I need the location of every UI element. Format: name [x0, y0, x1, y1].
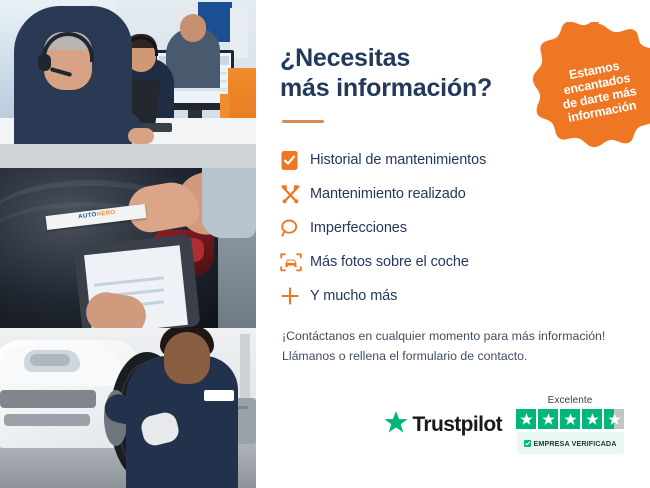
feature-item-imperfections: Imperfecciones [280, 211, 620, 245]
rating-star-filled [538, 409, 558, 429]
feature-label: Más fotos sobre el coche [310, 254, 469, 270]
agent-head-3 [180, 14, 206, 42]
page-title: ¿Necesitas más información? [280, 44, 510, 103]
mechanic-head [164, 332, 210, 384]
feature-label: Y mucho más [310, 288, 397, 304]
desk-front-edge [0, 144, 256, 168]
badge-text: Estamos encantados de darte más informac… [538, 52, 650, 128]
feature-item-more-photos: Más fotos sobre el coche [280, 245, 620, 279]
feature-item-maintenance-done: Mantenimiento realizado [280, 177, 620, 211]
document-check-icon [280, 150, 310, 171]
agent-hand [128, 128, 154, 144]
content-panel: ¿Necesitas más información? Historial de… [256, 0, 650, 488]
rating-star-filled [516, 409, 536, 429]
trustpilot-star-icon [384, 411, 408, 439]
car-bumper-vent [4, 414, 90, 426]
feature-list: Historial de mantenimientos M [280, 143, 620, 313]
photo-call-center [0, 0, 256, 168]
rating-star-half [604, 409, 624, 429]
plus-icon [280, 286, 310, 306]
headline-line-2: más información? [280, 74, 492, 102]
photo-inspection: AUTOHERO [0, 168, 256, 328]
magnifier-icon [280, 218, 310, 238]
trustpilot-rating-label: Excelente [548, 395, 593, 406]
verified-company-badge: EMPRESA VERIFICADA [517, 432, 624, 454]
feature-label: Imperfecciones [310, 220, 407, 236]
car-scan-icon [280, 252, 310, 273]
title-divider [282, 120, 324, 123]
headline-line-1: ¿Necesitas [280, 44, 410, 72]
car-headlight [24, 350, 80, 372]
monitor-screen-row [167, 88, 227, 91]
feature-label: Historial de mantenimientos [310, 152, 486, 168]
tools-cross-icon [280, 184, 310, 205]
headset-earcup [38, 54, 51, 71]
rating-star-filled [560, 409, 580, 429]
photo-workshop [0, 328, 256, 488]
rating-star-filled [582, 409, 602, 429]
trustpilot-score-block: Excelente [516, 395, 624, 454]
inspector-sleeve [202, 168, 256, 238]
verified-check-icon [524, 434, 531, 452]
verified-company-label: EMPRESA VERIFICADA [534, 439, 617, 448]
car-grille [0, 390, 96, 408]
uniform-logo [204, 390, 234, 401]
trustpilot-wordmark: Trustpilot [412, 413, 502, 437]
trustpilot-rating[interactable]: Trustpilot Excelente [384, 395, 624, 454]
trustpilot-stars [516, 409, 624, 429]
feature-label: Mantenimiento realizado [310, 186, 466, 202]
starburst-badge: Estamos encantados de darte más informac… [530, 22, 650, 158]
photo-column: AUTOHERO [0, 0, 256, 488]
feature-item-more: Y mucho más [280, 279, 620, 313]
promo-banner: AUTOHERO [0, 0, 650, 488]
contact-note: ¡Contáctanos en cualquier momento para m… [282, 327, 620, 367]
trustpilot-logo[interactable]: Trustpilot [384, 411, 502, 439]
contact-note-line-1: ¡Contáctanos en cualquier momento para m… [282, 329, 605, 343]
contact-note-line-2: Llámanos o rellena el formulario de cont… [282, 349, 527, 363]
